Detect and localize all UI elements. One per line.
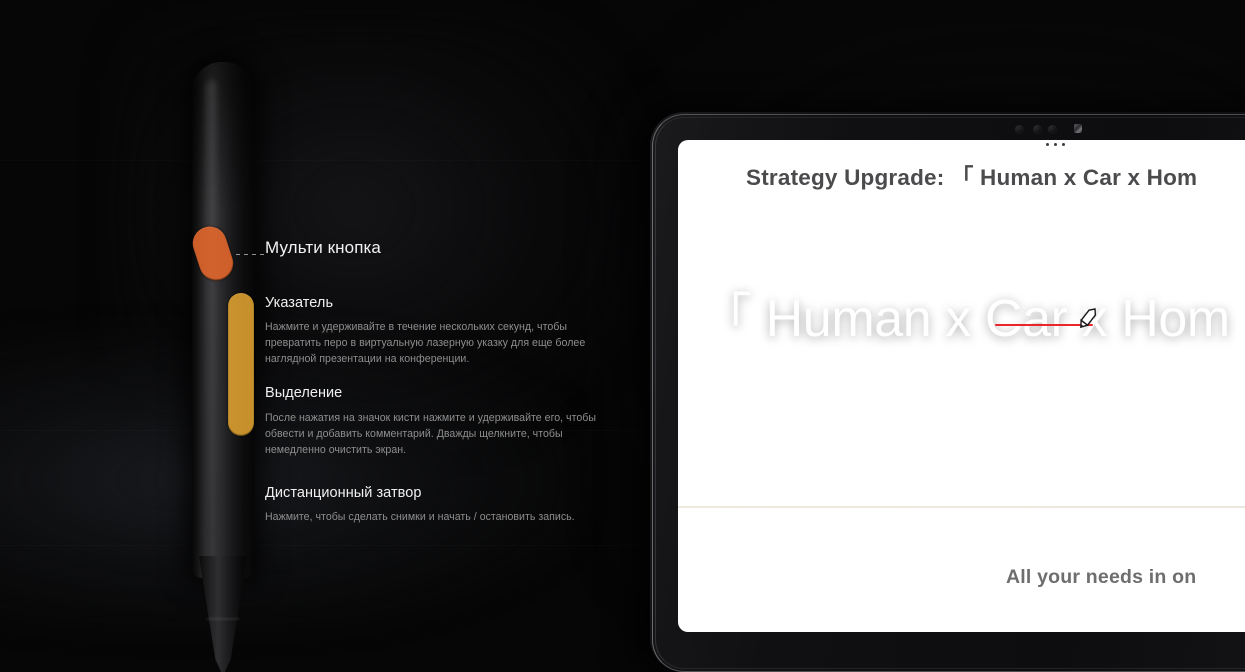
- feature-item: Указатель Нажмите и удерживайте в течени…: [265, 294, 615, 367]
- camera-lens-icon: [1033, 125, 1042, 134]
- feature-item: Выделение После нажатия на значок кисти …: [265, 384, 615, 457]
- slide-tagline: All your needs in on: [1006, 566, 1196, 589]
- feature-body: Нажмите и удерживайте в течение нескольк…: [265, 319, 615, 367]
- more-options-icon[interactable]: [1046, 143, 1065, 146]
- stylus-pen[interactable]: [186, 62, 264, 662]
- stylus-top-shading: [192, 62, 254, 212]
- callout-title: Мульти кнопка: [265, 239, 615, 256]
- feature-body: Нажмите, чтобы сделать снимки и начать /…: [265, 509, 615, 525]
- feature-body: После нажатия на значок кисти нажмите и …: [265, 410, 615, 458]
- strip-bottom-edge: [678, 506, 1245, 508]
- camera-lens-icon: [1015, 125, 1024, 134]
- spacer: [265, 475, 615, 484]
- feature-text-column: Мульти кнопка Указатель Нажмите и удержи…: [265, 239, 615, 533]
- tablet-screen[interactable]: [678, 140, 1245, 632]
- feature-item: Дистанционный затвор Нажмите, чтобы сдел…: [265, 484, 615, 525]
- stylus-cursor-icon: [1076, 305, 1100, 331]
- callout-leader-line: [236, 254, 266, 255]
- stylus-tip-band: [206, 618, 240, 620]
- camera-flash-icon: [1074, 124, 1082, 133]
- stylus-highlight: [206, 80, 217, 550]
- camera-lens-icon: [1048, 125, 1057, 134]
- feature-heading: Указатель: [265, 294, 615, 312]
- scene: Мульти кнопка Указатель Нажмите и удержи…: [0, 0, 1245, 672]
- feature-heading: Выделение: [265, 384, 615, 402]
- feature-heading: Дистанционный затвор: [265, 484, 615, 502]
- stylus-lower-button[interactable]: [228, 293, 254, 436]
- stylus-tip: [199, 556, 247, 672]
- slide-title: Strategy Upgrade: 「 Human x Car x Hom: [746, 160, 1197, 192]
- slide-headline: 「 Human x Car x Hom: [700, 276, 1230, 351]
